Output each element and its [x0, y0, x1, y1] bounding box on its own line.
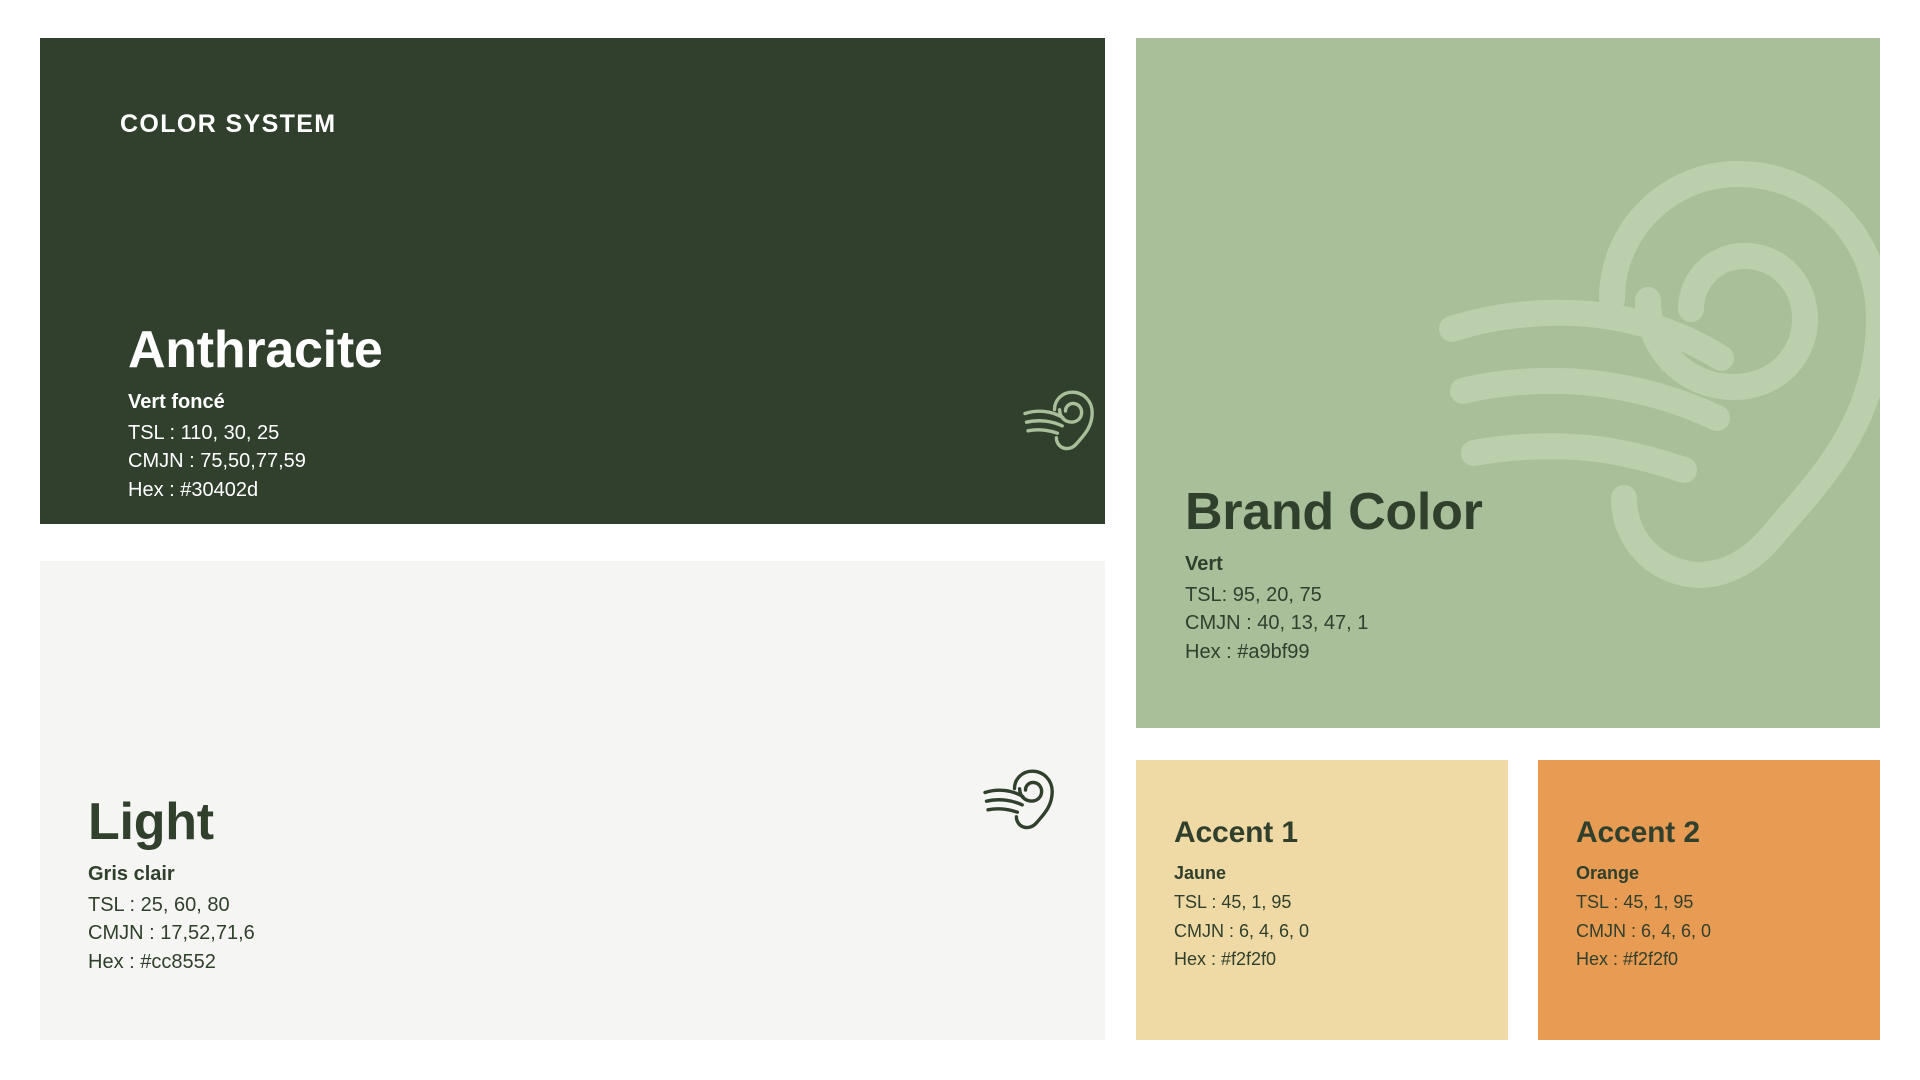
swatch-subtitle-anthracite: Vert foncé	[128, 388, 383, 416]
swatch-subtitle-accent1: Jaune	[1174, 861, 1309, 887]
swatch-cmjn-accent2: CMJN : 6, 4, 6, 0	[1576, 917, 1711, 945]
swatch-hex-light: Hex : #cc8552	[88, 948, 255, 977]
swatch-hex-accent1: Hex : #f2f2f0	[1174, 945, 1309, 973]
swatch-hex-brand: Hex : #a9bf99	[1185, 638, 1483, 667]
swatch-hex-anthracite: Hex : #30402d	[128, 476, 383, 505]
swatch-cmjn-accent1: CMJN : 6, 4, 6, 0	[1174, 917, 1309, 945]
wind-swirl-icon	[1017, 383, 1103, 455]
swatch-info-anthracite: Anthracite Vert foncé TSL : 110, 30, 25 …	[128, 323, 383, 505]
swatch-tsl-anthracite: TSL : 110, 30, 25	[128, 419, 383, 448]
swatch-cmjn-brand: CMJN : 40, 13, 47, 1	[1185, 609, 1483, 638]
page-title: COLOR SYSTEM	[120, 110, 337, 139]
swatch-title-brand: Brand Color	[1185, 485, 1483, 540]
swatch-tsl-light: TSL : 25, 60, 80	[88, 891, 255, 920]
swatch-info-light: Light Gris clair TSL : 25, 60, 80 CMJN :…	[88, 795, 255, 977]
swatch-card-accent2[interactable]: Accent 2 Orange TSL : 45, 1, 95 CMJN : 6…	[1538, 760, 1880, 1040]
swatch-cmjn-anthracite: CMJN : 75,50,77,59	[128, 447, 383, 476]
swatch-tsl-brand: TSL: 95, 20, 75	[1185, 581, 1483, 610]
swatch-subtitle-brand: Vert	[1185, 550, 1483, 578]
wind-swirl-watermark-icon	[1416, 124, 1880, 594]
swatch-info-accent2: Accent 2 Orange TSL : 45, 1, 95 CMJN : 6…	[1576, 817, 1711, 974]
wind-swirl-icon	[977, 762, 1063, 834]
swatch-info-brand: Brand Color Vert TSL: 95, 20, 75 CMJN : …	[1185, 485, 1483, 667]
swatch-title-light: Light	[88, 795, 255, 850]
swatch-title-accent2: Accent 2	[1576, 817, 1711, 849]
swatch-subtitle-light: Gris clair	[88, 860, 255, 888]
swatch-title-accent1: Accent 1	[1174, 817, 1309, 849]
swatch-title-anthracite: Anthracite	[128, 323, 383, 378]
swatch-subtitle-accent2: Orange	[1576, 861, 1711, 887]
swatch-card-anthracite[interactable]: COLOR SYSTEM Anthracite Vert foncé TSL :…	[40, 38, 1105, 524]
swatch-hex-accent2: Hex : #f2f2f0	[1576, 945, 1711, 973]
color-system-board: COLOR SYSTEM Anthracite Vert foncé TSL :…	[0, 0, 1920, 1080]
swatch-card-accent1[interactable]: Accent 1 Jaune TSL : 45, 1, 95 CMJN : 6,…	[1136, 760, 1508, 1040]
swatch-info-accent1: Accent 1 Jaune TSL : 45, 1, 95 CMJN : 6,…	[1174, 817, 1309, 974]
swatch-cmjn-light: CMJN : 17,52,71,6	[88, 919, 255, 948]
swatch-tsl-accent1: TSL : 45, 1, 95	[1174, 888, 1309, 916]
swatch-tsl-accent2: TSL : 45, 1, 95	[1576, 888, 1711, 916]
